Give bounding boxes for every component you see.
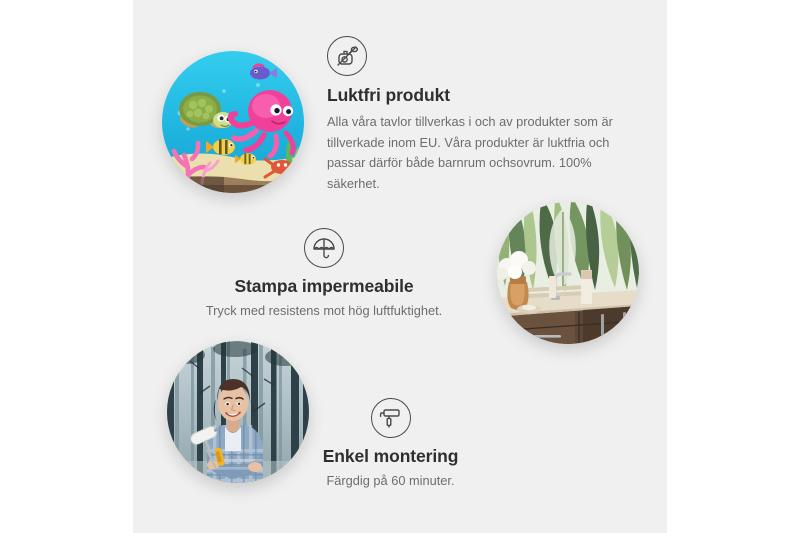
feature-description: Tryck med resistens mot hög luftfuktighe… bbox=[188, 301, 460, 322]
feature-block-waterproof-print: Stampa impermeabile Tryck med resistens … bbox=[188, 228, 460, 322]
feature-title: Stampa impermeabile bbox=[188, 276, 460, 297]
product-photo-painter-woman bbox=[167, 341, 309, 483]
feature-description: Alla våra tavlor tillverkas i och av pro… bbox=[327, 112, 617, 195]
feature-title: Luktfri produkt bbox=[327, 85, 617, 106]
product-feature-banner: Luktfri produkt Alla våra tavlor tillver… bbox=[0, 0, 800, 533]
feature-description: Färgdig på 60 minuter. bbox=[303, 471, 478, 492]
product-photo-underwater-scene bbox=[162, 51, 304, 193]
paint-roller-icon bbox=[371, 398, 411, 438]
umbrella-icon bbox=[304, 228, 344, 268]
feature-block-odour-free: Luktfri produkt Alla våra tavlor tillver… bbox=[327, 36, 617, 195]
feature-block-easy-mounting: Enkel montering Färgdig på 60 minuter. bbox=[303, 398, 478, 492]
product-photo-bathroom-vanity bbox=[497, 202, 639, 344]
no-fragrance-icon bbox=[327, 36, 367, 76]
feature-title: Enkel montering bbox=[303, 446, 478, 467]
